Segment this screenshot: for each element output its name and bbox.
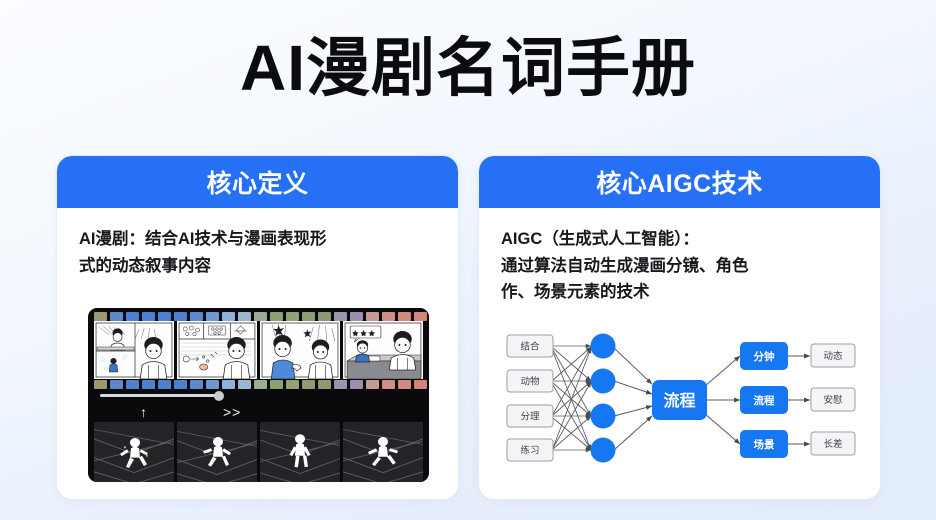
filmstrip-sprocket bbox=[382, 380, 395, 389]
filmstrip-sprocket bbox=[350, 380, 363, 389]
filmstrip-sprocket bbox=[270, 312, 283, 321]
filmstrip-sprocket bbox=[126, 380, 139, 389]
diagram-output-label-3: 长差 bbox=[823, 438, 842, 450]
card-core-definition: 核心定义 AI漫剧：结合AI技术与漫画表现形 式的动态叙事内容 bbox=[56, 155, 459, 500]
diagram-center-node: 流程 bbox=[652, 380, 707, 420]
timeline-slider-track[interactable] bbox=[100, 394, 220, 397]
filmstrip-sprocket bbox=[94, 380, 107, 389]
diagram-output-nodes: 动态 安慰 长差 bbox=[811, 344, 855, 455]
diagram-branch-nodes: 分钟 流程 场景 bbox=[740, 342, 788, 458]
filmstrip-sprocket bbox=[158, 312, 171, 321]
fast-forward-icon[interactable]: >> bbox=[223, 405, 241, 420]
filmstrip-sprocket bbox=[174, 380, 187, 389]
diagram-input-label-4: 练习 bbox=[520, 445, 539, 457]
diagram-input-label-1: 结合 bbox=[520, 341, 540, 353]
filmstrip-sprocket bbox=[318, 380, 331, 389]
diagram-output-label-2: 安慰 bbox=[823, 394, 843, 406]
filmstrip-sprocket bbox=[142, 312, 155, 321]
filmstrip-sprocket bbox=[238, 312, 251, 321]
filmstrip-sprocket bbox=[334, 312, 347, 321]
filmstrip-sprocket bbox=[110, 380, 123, 389]
diagram-center-label: 流程 bbox=[663, 391, 695, 410]
diagram-input-label-3: 分理 bbox=[520, 412, 540, 423]
filmstrip-sprocket bbox=[254, 380, 267, 389]
arrow-up-icon[interactable]: ↑ bbox=[140, 405, 147, 420]
timeline-slider-row[interactable] bbox=[88, 389, 429, 405]
aigc-text-line-2: 通过算法自动生成漫画分镜、角色 bbox=[501, 253, 858, 280]
comic-panel bbox=[177, 321, 257, 379]
comic-panel bbox=[94, 321, 174, 379]
card-header-core-aigc: 核心AIGC技术 bbox=[479, 156, 880, 208]
comic-panel bbox=[343, 321, 423, 379]
keyframe-cell bbox=[94, 422, 174, 482]
filmstrip-sprocket bbox=[126, 312, 139, 321]
filmstrip-sprocket bbox=[366, 380, 379, 389]
diagram-hidden-layer bbox=[591, 334, 616, 463]
filmstrip-sprocket bbox=[174, 312, 187, 321]
filmstrip-sprocket bbox=[302, 312, 315, 321]
filmstrip-sprocket bbox=[366, 312, 379, 321]
filmstrip-sprocket bbox=[110, 312, 123, 321]
filmstrip-panel-row bbox=[88, 321, 429, 379]
diagram-output-label-1: 动态 bbox=[823, 350, 843, 362]
filmstrip-sprocket bbox=[206, 380, 219, 389]
filmstrip-sprocket bbox=[286, 380, 299, 389]
keyframe-cell bbox=[343, 422, 423, 482]
comic-panel bbox=[260, 321, 340, 379]
card-core-aigc-technology: 核心AIGC技术 AIGC（生成式人工智能）： 通过算法自动生成漫画分镜、角色 … bbox=[478, 155, 881, 500]
filmstrip-sprocket bbox=[350, 312, 363, 321]
filmstrip-sprocket bbox=[190, 312, 203, 321]
filmstrip-sprocket bbox=[398, 380, 411, 389]
page-title: AI漫剧名词手册 bbox=[0, 34, 936, 103]
filmstrip-sprocket bbox=[382, 312, 395, 321]
filmstrip-sprocket bbox=[334, 380, 347, 389]
filmstrip-sprocket bbox=[222, 312, 235, 321]
keyframe-cell bbox=[177, 422, 257, 482]
aigc-text-line-3: 作、场景元素的技术 bbox=[501, 279, 858, 306]
filmstrip-sprockets-top bbox=[88, 308, 429, 321]
filmstrip-sprocket bbox=[398, 312, 411, 321]
aigc-text-line-1: AIGC（生成式人工智能）： bbox=[501, 226, 858, 253]
filmstrip-sprocket bbox=[94, 312, 107, 321]
card-body-core-definition: AI漫剧：结合AI技术与漫画表现形 式的动态叙事内容 bbox=[57, 208, 458, 279]
filmstrip-sprocket bbox=[222, 380, 235, 389]
diagram-input-label-2: 动物 bbox=[520, 376, 540, 388]
filmstrip-sprocket bbox=[254, 312, 267, 321]
diagram-branch-label-1: 分钟 bbox=[754, 350, 775, 363]
card-body-core-aigc: AIGC（生成式人工智能）： 通过算法自动生成漫画分镜、角色 作、场景元素的技术 bbox=[479, 208, 880, 306]
filmstrip-sprocket bbox=[142, 380, 155, 389]
filmstrip-sprocket bbox=[318, 312, 331, 321]
card-header-title: 核心AIGC技术 bbox=[596, 164, 763, 200]
filmstrip-sprocket bbox=[302, 380, 315, 389]
filmstrip-sprocket bbox=[158, 380, 171, 389]
comic-filmstrip-illustration: ↑ >> bbox=[88, 308, 429, 482]
keyframe-cell bbox=[260, 422, 340, 482]
filmstrip-sprocket bbox=[206, 312, 219, 321]
timeline-slider-knob[interactable] bbox=[214, 391, 224, 401]
card-header-core-definition: 核心定义 bbox=[57, 156, 458, 208]
filmstrip-sprocket bbox=[414, 312, 427, 321]
playback-control-row: ↑ >> bbox=[88, 405, 429, 422]
filmstrip-sprocket bbox=[270, 380, 283, 389]
filmstrip-sprocket bbox=[190, 380, 203, 389]
card-header-title: 核心定义 bbox=[206, 164, 308, 200]
keyframe-row bbox=[88, 422, 429, 482]
filmstrip-sprocket bbox=[414, 380, 427, 389]
filmstrip-sprockets-bottom bbox=[88, 379, 429, 389]
filmstrip-sprocket bbox=[238, 380, 251, 389]
definition-text-line-2: 式的动态叙事内容 bbox=[79, 253, 436, 280]
filmstrip-sprocket bbox=[286, 312, 299, 321]
definition-text-line-1: AI漫剧：结合AI技术与漫画表现形 bbox=[79, 226, 436, 253]
diagram-branch-label-2: 流程 bbox=[754, 394, 775, 407]
aigc-network-diagram: 结合 动物 分理 练习 流程 分钟 bbox=[495, 328, 867, 476]
diagram-branch-label-3: 场景 bbox=[754, 438, 775, 451]
